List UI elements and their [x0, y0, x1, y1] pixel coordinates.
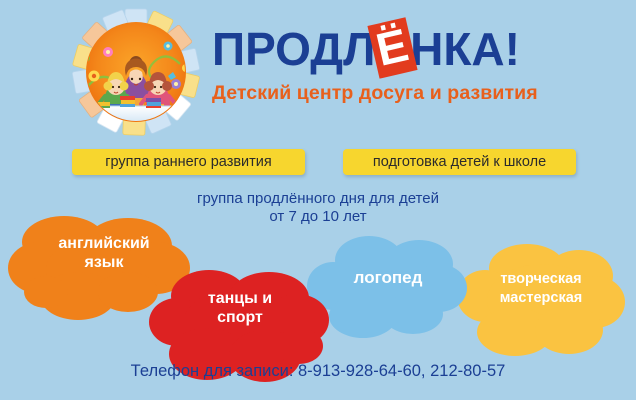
title-part-1: ПРОДЛ [212, 23, 375, 75]
poster-canvas: ПРОДЛЁНКА! Детский центр досуга и развит… [0, 0, 636, 400]
center-logo [68, 6, 204, 142]
title-part-2: НКА! [410, 23, 520, 75]
pill-early-development[interactable]: группа раннего развития [72, 149, 305, 175]
pill-school-prep[interactable]: подготовка детей к школе [343, 149, 576, 175]
header-block: ПРОДЛЁНКА! Детский центр досуга и развит… [212, 24, 622, 105]
contact-phone[interactable]: Телефон для записи: 8-913-928-64-60, 212… [0, 362, 636, 381]
cloud-craft-workshop[interactable]: творческая мастерская [453, 240, 629, 362]
page-title: ПРОДЛЁНКА! [212, 24, 622, 76]
cloud-craft-shape [453, 240, 629, 362]
extended-day-note-line1: группа продлённого дня для детей [0, 190, 636, 208]
page-subtitle: Детский центр досуга и развития [212, 82, 622, 105]
logo-illustration [68, 6, 204, 142]
